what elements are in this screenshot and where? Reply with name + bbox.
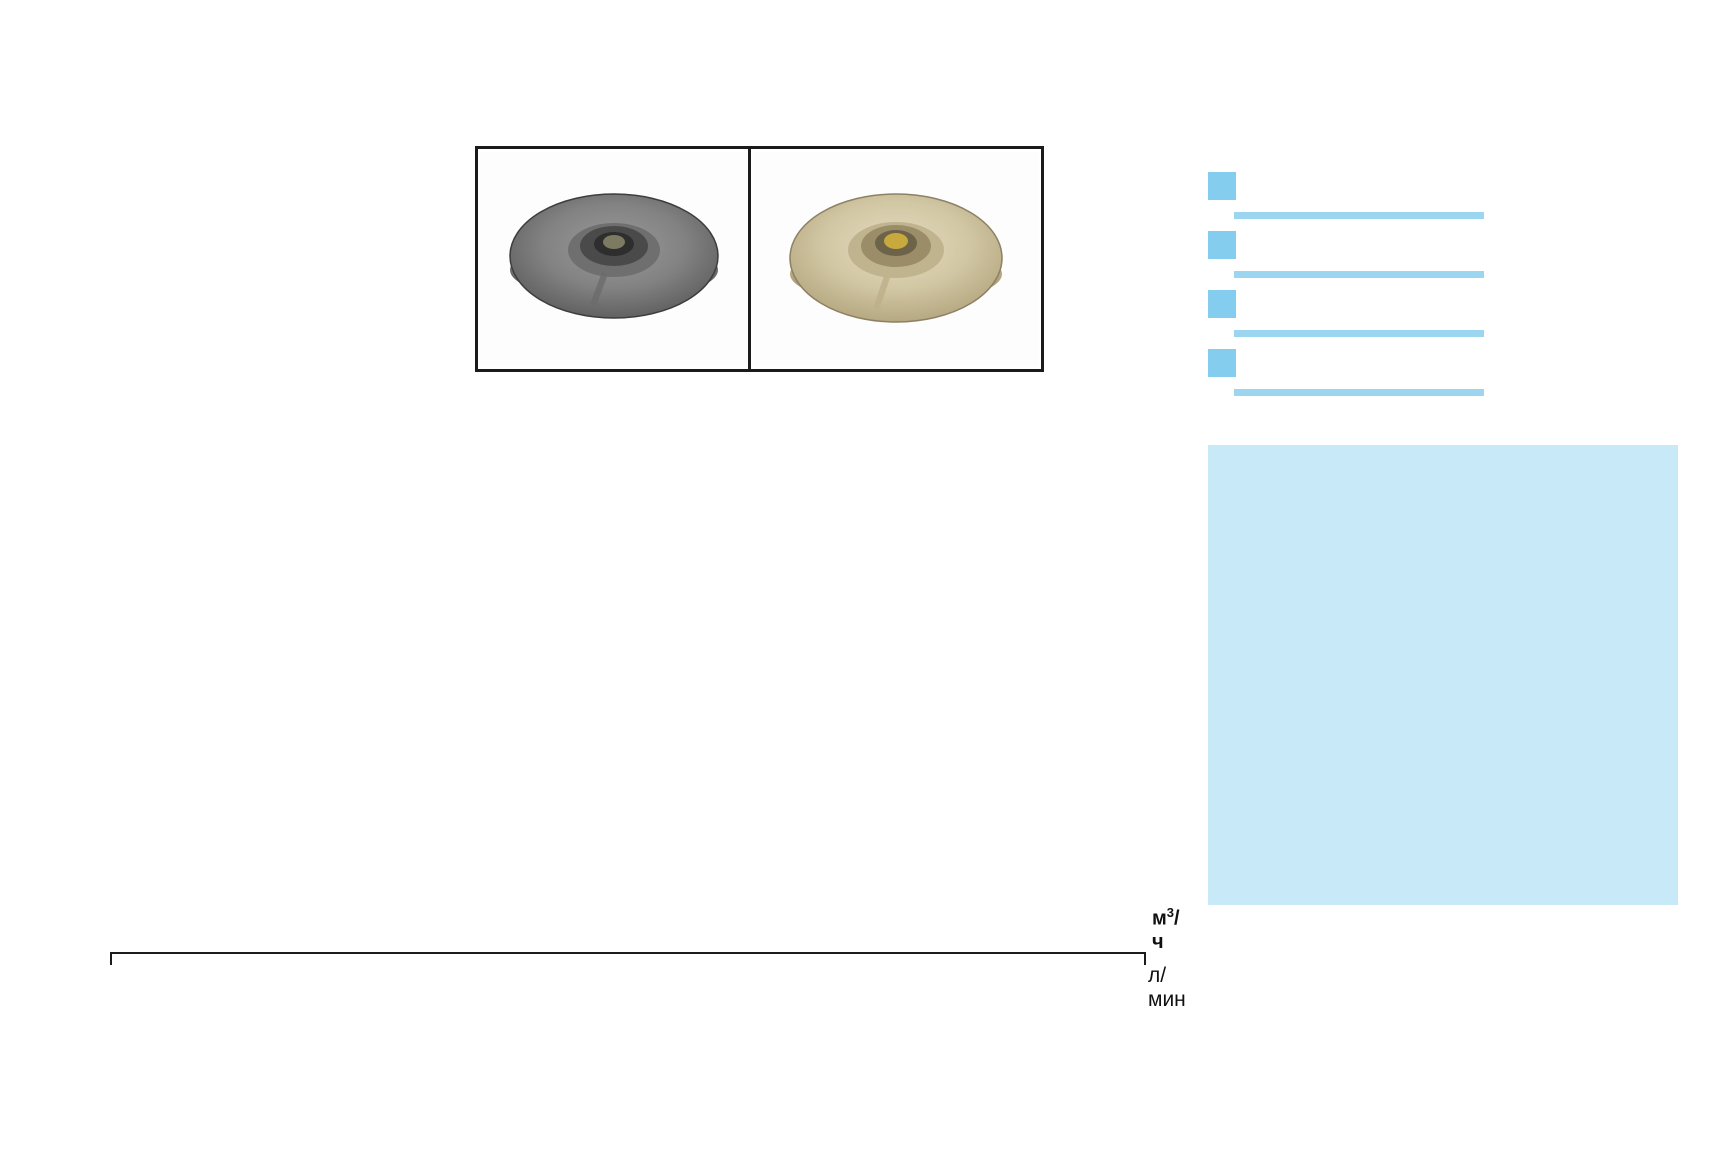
impeller-photo-steel [475, 146, 753, 372]
legend-number-2 [1208, 231, 1236, 259]
x-axis-unit-secondary: л/мин [1148, 964, 1186, 1012]
x-axis-unit-primary: м3/ч [1152, 905, 1180, 954]
legend-separator [1234, 330, 1484, 337]
impeller-brass-icon [753, 152, 1039, 366]
legend-separator [1234, 271, 1484, 278]
ruler-cap-right [1144, 952, 1146, 965]
legend-item-js110[interactable] [1208, 337, 1628, 389]
legend-item-js60[interactable] [1208, 160, 1628, 212]
impeller-photo-brass [748, 146, 1044, 372]
legend-separator [1234, 212, 1484, 219]
legend-number-3 [1208, 290, 1236, 318]
impeller-steel-icon [480, 152, 748, 366]
plot-area [110, 162, 1146, 892]
legend [1208, 160, 1628, 396]
info-box [1208, 445, 1678, 905]
legend-number-4 [1208, 349, 1236, 377]
x-axis-secondary-ruler [110, 952, 1146, 954]
legend-number-1 [1208, 172, 1236, 200]
ruler-cap-left [110, 952, 112, 965]
legend-item-js80[interactable] [1208, 219, 1628, 271]
pump-performance-chart: м3/ч л/мин [0, 0, 1180, 1176]
legend-item-js110x[interactable] [1208, 278, 1628, 330]
legend-separator [1234, 389, 1484, 396]
